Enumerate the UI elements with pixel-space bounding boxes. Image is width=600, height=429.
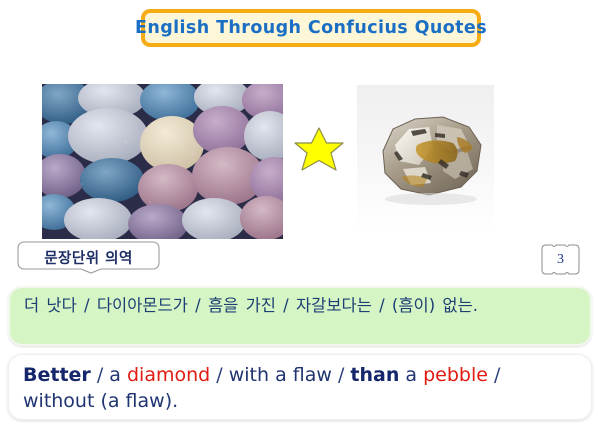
- page-number: 3: [540, 243, 581, 276]
- english-word-group: with a flaw: [229, 364, 332, 386]
- page-number-badge: 3: [540, 243, 581, 276]
- page-title: English Through Confucius Quotes: [135, 18, 487, 38]
- english-keyword: than: [350, 364, 399, 386]
- star-icon: [293, 126, 345, 178]
- pebbles-photo: [42, 84, 283, 239]
- korean-translation-text: 더 낫다 / 다이아몬드가 / 흠을 가진 / 자갈보다는 / (흠이) 없는.: [24, 295, 576, 317]
- english-word-group: a: [405, 364, 417, 386]
- english-sentence-box: Better / a diamond / with a flaw / than …: [8, 354, 592, 420]
- english-word-group: a: [109, 364, 121, 386]
- english-word-group: without (a flaw).: [23, 390, 178, 412]
- translation-mode-label-text: 문장단위 의역: [17, 241, 160, 274]
- translation-mode-label: 문장단위 의역: [17, 241, 160, 274]
- korean-translation-box: 더 낫다 / 다이아몬드가 / 흠을 가진 / 자갈보다는 / (흠이) 없는.: [8, 286, 592, 346]
- chunk-separator: /: [338, 364, 344, 386]
- chunk-separator: /: [216, 364, 222, 386]
- english-highlight-word: pebble: [423, 364, 488, 386]
- rough-diamond-photo: [357, 85, 494, 233]
- slide-title-banner: English Through Confucius Quotes: [141, 9, 481, 47]
- english-keyword: Better: [23, 364, 91, 386]
- chunk-separator: /: [494, 364, 500, 386]
- english-sentence-text: Better / a diamond / with a flaw / than …: [23, 363, 577, 414]
- english-highlight-word: diamond: [127, 364, 210, 386]
- chunk-separator: /: [97, 364, 103, 386]
